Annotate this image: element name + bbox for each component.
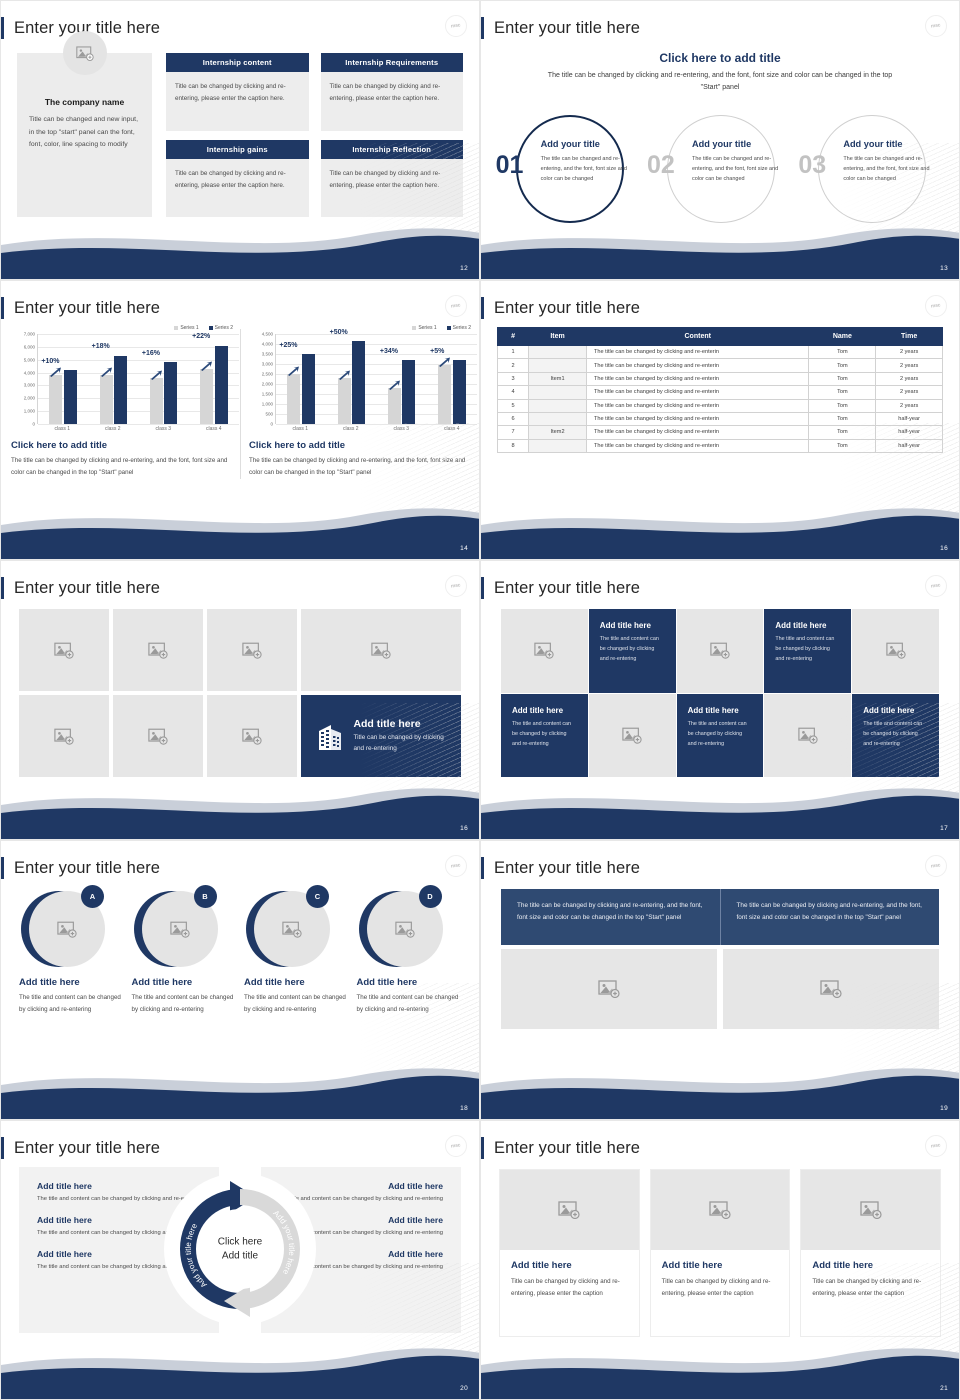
slide-title-bar: Enter your title here [1, 1135, 160, 1161]
step-desc: The title can be changed and re-entering… [843, 154, 939, 185]
image-placeholder-cell[interactable] [113, 609, 203, 691]
tile-title: Add title here [863, 706, 928, 715]
card-internship-reflection[interactable]: Internship Reflection Title can be chang… [321, 140, 464, 218]
logo-text: msc [931, 303, 941, 309]
growth-arrow-icon [200, 358, 213, 368]
slide-19[interactable]: Enter your title here msc The title can … [480, 840, 960, 1120]
card-header: Internship Reflection [321, 140, 464, 159]
title-accent-bar [480, 577, 484, 599]
table-row[interactable]: 5The title can be changed by clicking an… [498, 399, 943, 412]
step-03[interactable]: 03 Add your title The title can be chang… [796, 113, 946, 225]
image-placeholder-icon [242, 642, 262, 659]
slide-21[interactable]: Enter your title here msc Add title here… [480, 1120, 960, 1400]
tile-desc: The title and content can be changed by … [863, 719, 928, 749]
page-title: Enter your title here [494, 299, 640, 318]
cell-content: The title can be changed by clicking and… [586, 346, 809, 359]
growth-arrow-icon [438, 354, 451, 364]
checkerboard-grid: Add title here The title and content can… [501, 609, 939, 777]
growth-arrow-icon [150, 367, 163, 377]
image-placeholder-icon [820, 980, 842, 998]
slide-16-grid[interactable]: Enter your title here msc [0, 560, 480, 840]
cell-content: The title can be changed by clicking and… [586, 359, 809, 372]
image-placeholder-cell[interactable] [501, 609, 588, 693]
image-placeholder-cell[interactable] [852, 609, 939, 693]
page-title: Enter your title here [494, 1139, 640, 1158]
image-placeholder-icon [148, 642, 168, 659]
table-row[interactable]: 8The title can be changed by clicking an… [498, 439, 943, 452]
band-text-right: The title can be changed by clicking and… [720, 889, 940, 945]
page-number: 12 [460, 265, 468, 272]
bar-series-1 [287, 374, 300, 424]
image-placeholder-cell[interactable] [501, 949, 717, 1029]
bar-group: +25% [287, 334, 315, 424]
y-tick-label: 3,500 [262, 351, 273, 356]
bar-group: +18% [100, 334, 128, 424]
logo-watermark-icon: msc [925, 1135, 947, 1157]
page-number: 20 [460, 1385, 468, 1392]
cell-item: Item2 [529, 426, 587, 439]
company-name: The company name [29, 97, 140, 107]
growth-arrow-icon [49, 364, 62, 374]
text-tile[interactable]: Add title here The title and content can… [764, 609, 851, 693]
text-tile[interactable]: Add title here The title and content can… [501, 694, 588, 778]
x-axis-left: class 1class 2class 3class 4 [37, 424, 239, 432]
table-row[interactable]: 3Item1The title can be changed by clicki… [498, 372, 943, 385]
image-placeholder-icon [798, 727, 818, 744]
step-01[interactable]: 01 Add your title The title can be chang… [494, 113, 644, 225]
card-image[interactable] [500, 1170, 639, 1250]
logo-text: msc [451, 583, 461, 589]
step-title: Add your title [541, 139, 637, 149]
growth-arrow-icon [287, 363, 300, 373]
step-desc: The title can be changed and re-entering… [541, 154, 637, 185]
item-title: Add title here [132, 977, 237, 988]
cell-time: 2 years [876, 386, 943, 399]
image-placeholder-icon [371, 642, 391, 659]
bar-annotation: +34% [380, 348, 398, 355]
bar-series-1 [338, 378, 351, 424]
image-placeholder-icon [54, 642, 74, 659]
chart-caption-title: Click here to add title [11, 440, 239, 451]
logo-watermark-icon: msc [925, 295, 947, 317]
bar-series-1 [150, 378, 163, 424]
y-tick-label: 4,000 [262, 341, 273, 346]
slide-title-bar: Enter your title here [1, 295, 160, 321]
image-placeholder-cell[interactable] [589, 694, 676, 778]
bar-annotation: +25% [279, 342, 297, 349]
chart-caption-title: Click here to add title [249, 440, 477, 451]
table-row[interactable]: 2The title can be changed by clicking an… [498, 359, 943, 372]
page-number: 21 [940, 1385, 948, 1392]
col-header-content: Content [586, 328, 809, 346]
step-title: Add your title [692, 139, 788, 149]
item-desc: The title and content can be changed by … [132, 992, 237, 1016]
image-placeholder-cell[interactable] [677, 609, 764, 693]
card-internship-content[interactable]: Internship content Title can be changed … [166, 53, 309, 131]
page-number: 14 [460, 545, 468, 552]
content-card[interactable]: Add title here Title can be changed by c… [499, 1169, 640, 1337]
cell-name: Tom [809, 439, 876, 452]
step-number: 03 [798, 153, 826, 178]
band-text-left: The title can be changed by clicking and… [501, 889, 720, 945]
slide-title-bar: Enter your title here [1, 855, 160, 881]
cell-content: The title can be changed by clicking and… [586, 439, 809, 452]
col-header-time: Time [876, 328, 943, 346]
bar-group: +16% [150, 334, 178, 424]
cell-name: Tom [809, 399, 876, 412]
title-accent-bar [480, 857, 484, 879]
image-placeholder-icon [598, 980, 620, 998]
image-placeholder-cell[interactable] [764, 694, 851, 778]
tile-title: Add title here [775, 621, 840, 630]
cell-item [529, 346, 587, 359]
image-placeholder-cell[interactable] [19, 695, 109, 777]
x-tick-label: class 1 [54, 426, 70, 432]
step-number: 02 [647, 153, 675, 178]
y-tick-label: 3,000 [262, 362, 273, 367]
slide-title-bar: Enter your title here [481, 855, 640, 881]
tile-desc: The title and content can be changed by … [512, 719, 577, 749]
image-placeholder-icon [558, 1201, 580, 1219]
item-desc: The title and content can be changed by … [19, 992, 124, 1016]
logo-watermark-icon: msc [925, 15, 947, 37]
page-title: Enter your title here [14, 579, 160, 598]
card-header: Internship Requirements [321, 53, 464, 72]
cell-time: 2 years [876, 359, 943, 372]
x-axis-right: class 1class 2class 3class 4 [275, 424, 477, 432]
circle-item-a[interactable]: A Add title here The title and content c… [19, 887, 124, 1016]
bar-group: +5% [438, 334, 466, 424]
wave-footer [1, 1343, 480, 1399]
card-title: Add title here [662, 1260, 779, 1271]
text-band[interactable]: The title can be changed by clicking and… [501, 889, 939, 945]
tile-title: Add title here [600, 621, 665, 630]
logo-text: msc [931, 23, 941, 29]
bar-series-1 [438, 365, 451, 424]
item-desc: The title and content can be changed by … [244, 992, 349, 1016]
card-header: Internship gains [166, 140, 309, 159]
page-number: 16 [940, 545, 948, 552]
cell-item [529, 399, 587, 412]
text-tile[interactable]: Add title here The title and content can… [589, 609, 676, 693]
cell-content: The title can be changed by clicking and… [586, 372, 809, 385]
item-desc: The title and content can be changed by … [357, 992, 462, 1016]
logo-text: msc [451, 1143, 461, 1149]
logo-watermark-icon: msc [445, 855, 467, 877]
step-02[interactable]: 02 Add your title The title can be chang… [645, 113, 795, 225]
bar-series-1 [49, 375, 62, 424]
chart-caption-desc: The title can be changed by clicking and… [11, 455, 239, 479]
image-placeholder-icon [860, 1201, 882, 1219]
image-placeholder-icon [709, 1201, 731, 1219]
cell-time: half-year [876, 439, 943, 452]
image-placeholder-cell[interactable] [301, 609, 461, 691]
tile-desc: The title and content can be changed by … [600, 634, 665, 664]
title-accent-bar [0, 17, 4, 39]
cycle-center-label[interactable]: Click here Add title [202, 1236, 278, 1263]
image-placeholder-icon [54, 728, 74, 745]
cell-content: The title can be changed by clicking and… [586, 399, 809, 412]
page-title: Enter your title here [14, 299, 160, 318]
y-tick-label: 5,000 [24, 357, 35, 362]
center-line-1: Click here [202, 1236, 278, 1250]
chart-block-right: Series 1 Series 2 05001,0001,5002,0002,5… [249, 325, 477, 479]
slide-14[interactable]: Enter your title here msc Series 1 Serie… [0, 280, 480, 560]
step-desc: The title can be changed and re-entering… [692, 154, 788, 185]
step-circles: 01 Add your title The title can be chang… [493, 113, 947, 225]
bar-series-2 [164, 362, 177, 424]
table-body: 1The title can be changed by clicking an… [498, 346, 943, 453]
image-placeholder-icon [282, 921, 302, 938]
cell-name: Tom [809, 359, 876, 372]
image-placeholder-cell[interactable] [19, 609, 109, 691]
feature-title: Add title here [353, 718, 445, 730]
cell-item [529, 386, 587, 399]
cell-name: Tom [809, 412, 876, 425]
y-tick-label: 6,000 [24, 344, 35, 349]
card-header: Internship content [166, 53, 309, 72]
page-title: Enter your title here [14, 1139, 160, 1158]
legend-series-1: Series 1 [412, 325, 436, 331]
slide-deck: Enter your title here msc The company na… [0, 0, 960, 1400]
page-title: Enter your title here [494, 859, 640, 878]
slide-title-bar: Enter your title here [481, 15, 640, 41]
title-accent-bar [480, 1137, 484, 1159]
wave-footer [481, 1343, 960, 1399]
wave-footer [1, 503, 480, 559]
plot-area-left: +10%+18%+16%+22% [37, 334, 239, 424]
growth-arrow-icon [100, 364, 113, 374]
slide-title-bar: Enter your title here [481, 295, 640, 321]
page-title: Enter your title here [14, 859, 160, 878]
image-placeholder-icon [242, 728, 262, 745]
image-placeholder-cell[interactable] [723, 949, 939, 1029]
company-description: Title can be changed and new input, in t… [29, 114, 140, 152]
bar-group: +22% [200, 334, 228, 424]
title-accent-bar [0, 857, 4, 879]
circle-item-b[interactable]: B Add title here The title and content c… [132, 887, 237, 1016]
bar-series-2 [215, 346, 228, 424]
y-tick-label: 3,000 [24, 383, 35, 388]
content-card[interactable]: Add title here Title can be changed by c… [650, 1169, 791, 1337]
image-placeholder-cell[interactable] [207, 609, 297, 691]
slide-12[interactable]: Enter your title here msc The company na… [0, 0, 480, 280]
logo-text: msc [451, 23, 461, 29]
image-grid: Add title here Title can be changed by c… [19, 609, 461, 777]
legend-series-2: Series 2 [447, 325, 471, 331]
page-number: 19 [940, 1105, 948, 1112]
bar-chart-right: 05001,0001,5002,0002,5003,0003,5004,0004… [249, 334, 477, 424]
tile-title: Add title here [688, 706, 753, 715]
bar-group: +34% [388, 334, 416, 424]
cell-num: 4 [498, 386, 529, 399]
cell-num: 6 [498, 412, 529, 425]
image-placeholder-icon [534, 642, 554, 659]
y-tick-label: 2,500 [262, 371, 273, 376]
image-placeholder-icon[interactable] [63, 31, 107, 75]
cell-content: The title can be changed by clicking and… [586, 426, 809, 439]
image-placeholder-icon [622, 727, 642, 744]
content-card[interactable]: Add title here Title can be changed by c… [800, 1169, 941, 1337]
slide-title-bar: Enter your title here [481, 1135, 640, 1161]
card-image[interactable] [801, 1170, 940, 1250]
card-title: Add title here [511, 1260, 628, 1271]
gridline [276, 424, 477, 425]
text-tile[interactable]: Add title here The title and content can… [677, 694, 764, 778]
company-panel[interactable]: The company name Title can be changed an… [17, 53, 152, 217]
slide-20[interactable]: Enter your title here msc Add title here… [0, 1120, 480, 1400]
logo-text: msc [931, 863, 941, 869]
center-line-2: Add title [202, 1249, 278, 1263]
card-row: Add title here Title can be changed by c… [499, 1169, 941, 1337]
image-placeholder-icon [886, 642, 906, 659]
chart-legend: Series 1 Series 2 [11, 325, 239, 331]
card-desc: Title can be changed by clicking and re-… [511, 1276, 628, 1300]
cell-time: half-year [876, 412, 943, 425]
plot-area-right: +25%+50%+34%+5% [275, 334, 477, 424]
wave-footer [481, 1063, 960, 1119]
cell-num: 1 [498, 346, 529, 359]
tile-desc: The title and content can be changed by … [688, 719, 753, 749]
x-tick-label: class 2 [105, 426, 121, 432]
step-number: 01 [496, 153, 524, 178]
circle-item-c[interactable]: C Add title here The title and content c… [244, 887, 349, 1016]
title-accent-bar [0, 297, 4, 319]
wave-footer [1, 783, 480, 839]
x-tick-label: class 4 [444, 426, 460, 432]
bar-series-2 [352, 341, 365, 424]
tile-desc: The title and content can be changed by … [775, 634, 840, 664]
title-accent-bar [0, 1137, 4, 1159]
x-tick-label: class 4 [206, 426, 222, 432]
card-internship-gains[interactable]: Internship gains Title can be changed by… [166, 140, 309, 218]
image-placeholder-cell[interactable] [113, 695, 203, 777]
y-axis-right: 05001,0001,5002,0002,5003,0003,5004,0004… [249, 334, 275, 424]
title-accent-bar [480, 17, 484, 39]
gridline [38, 424, 239, 425]
column-divider [240, 329, 241, 479]
page-number: 17 [940, 825, 948, 832]
section-heading: Click here to add title [481, 51, 959, 65]
image-placeholder-icon [57, 921, 77, 938]
logo-watermark-icon: msc [445, 295, 467, 317]
wave-footer [1, 1063, 480, 1119]
slide-17[interactable]: Enter your title here msc Add title here… [480, 560, 960, 840]
card-desc: Title can be changed by clicking and re-… [812, 1276, 929, 1300]
wave-footer [481, 783, 960, 839]
bar-group: +50% [338, 334, 366, 424]
card-image[interactable] [651, 1170, 790, 1250]
title-accent-bar [480, 297, 484, 319]
data-table[interactable]: # Item Content Name Time 1The title can … [497, 327, 943, 453]
text-tile[interactable]: Add title here The title and content can… [852, 694, 939, 778]
card-body: Title can be changed by clicking and re-… [321, 159, 464, 218]
logo-watermark-icon: msc [925, 575, 947, 597]
cycle-diagram[interactable]: Add your title here Add your title here … [164, 1173, 316, 1325]
cell-name: Tom [809, 386, 876, 399]
image-placeholder-icon [148, 728, 168, 745]
item-title: Add title here [244, 977, 349, 988]
bar-annotation: +16% [142, 350, 160, 357]
internship-cards: Internship content Title can be changed … [166, 53, 463, 217]
bar-series-2 [114, 356, 127, 424]
wave-footer [481, 503, 960, 559]
logo-text: msc [931, 583, 941, 589]
y-tick-label: 0 [270, 422, 273, 427]
table-row[interactable]: 1The title can be changed by clicking an… [498, 346, 943, 359]
logo-text: msc [451, 863, 461, 869]
cell-content: The title can be changed by clicking and… [586, 412, 809, 425]
cell-num: 5 [498, 399, 529, 412]
y-tick-label: 500 [265, 411, 273, 416]
tile-title: Add title here [512, 706, 577, 715]
logo-watermark-icon: msc [925, 855, 947, 877]
bar-annotation: +50% [330, 329, 348, 336]
card-body: Title can be changed by clicking and re-… [166, 159, 309, 218]
bar-series-2 [402, 360, 415, 424]
table-row[interactable]: 4The title can be changed by clicking an… [498, 386, 943, 399]
cell-time: 2 years [876, 346, 943, 359]
chart-legend: Series 1 Series 2 [249, 325, 477, 331]
card-internship-requirements[interactable]: Internship Requirements Title can be cha… [321, 53, 464, 131]
section-subheading: The title can be changed by clicking and… [541, 70, 899, 95]
y-tick-label: 7,000 [24, 332, 35, 337]
y-tick-label: 2,000 [262, 382, 273, 387]
growth-arrow-icon [388, 377, 401, 387]
y-tick-label: 1,000 [24, 409, 35, 414]
y-tick-label: 4,000 [24, 370, 35, 375]
slide-13[interactable]: Enter your title here msc Click here to … [480, 0, 960, 280]
y-tick-label: 2,000 [24, 396, 35, 401]
page-title: Enter your title here [494, 19, 640, 38]
wave-footer [1, 223, 480, 279]
growth-arrow-icon [338, 367, 351, 377]
cell-num: 2 [498, 359, 529, 372]
feature-cell[interactable]: Add title here Title can be changed by c… [301, 695, 461, 777]
page-title: Enter your title here [494, 579, 640, 598]
slide-18[interactable]: Enter your title here msc A Add title he… [0, 840, 480, 1120]
col-header-name: Name [809, 328, 876, 346]
table-row[interactable]: 7Item2The title can be changed by clicki… [498, 426, 943, 439]
cell-name: Tom [809, 346, 876, 359]
x-tick-label: class 2 [343, 426, 359, 432]
image-placeholder-cell[interactable] [207, 695, 297, 777]
slide-16-table[interactable]: Enter your title here msc # Item Content… [480, 280, 960, 560]
logo-watermark-icon: msc [445, 15, 467, 37]
y-tick-label: 0 [32, 422, 35, 427]
bar-series-2 [302, 354, 315, 424]
circle-items: A Add title here The title and content c… [19, 887, 461, 1016]
bar-series-2 [453, 360, 466, 424]
item-title: Add title here [357, 977, 462, 988]
title-accent-bar [0, 577, 4, 599]
cell-item [529, 359, 587, 372]
cell-time: 2 years [876, 372, 943, 385]
x-tick-label: class 3 [393, 426, 409, 432]
badge-letter: A [81, 885, 104, 908]
cell-item [529, 412, 587, 425]
image-placeholder-icon [395, 921, 415, 938]
circle-item-d[interactable]: D Add title here The title and content c… [357, 887, 462, 1016]
card-title: Add title here [812, 1260, 929, 1271]
image-placeholder-icon [170, 921, 190, 938]
cell-item: Item1 [529, 372, 587, 385]
y-tick-label: 4,500 [262, 332, 273, 337]
chart-caption-desc: The title can be changed by clicking and… [249, 455, 477, 479]
bar-annotation: +22% [192, 333, 210, 340]
table-row[interactable]: 6The title can be changed by clicking an… [498, 412, 943, 425]
image-row [501, 949, 939, 1029]
